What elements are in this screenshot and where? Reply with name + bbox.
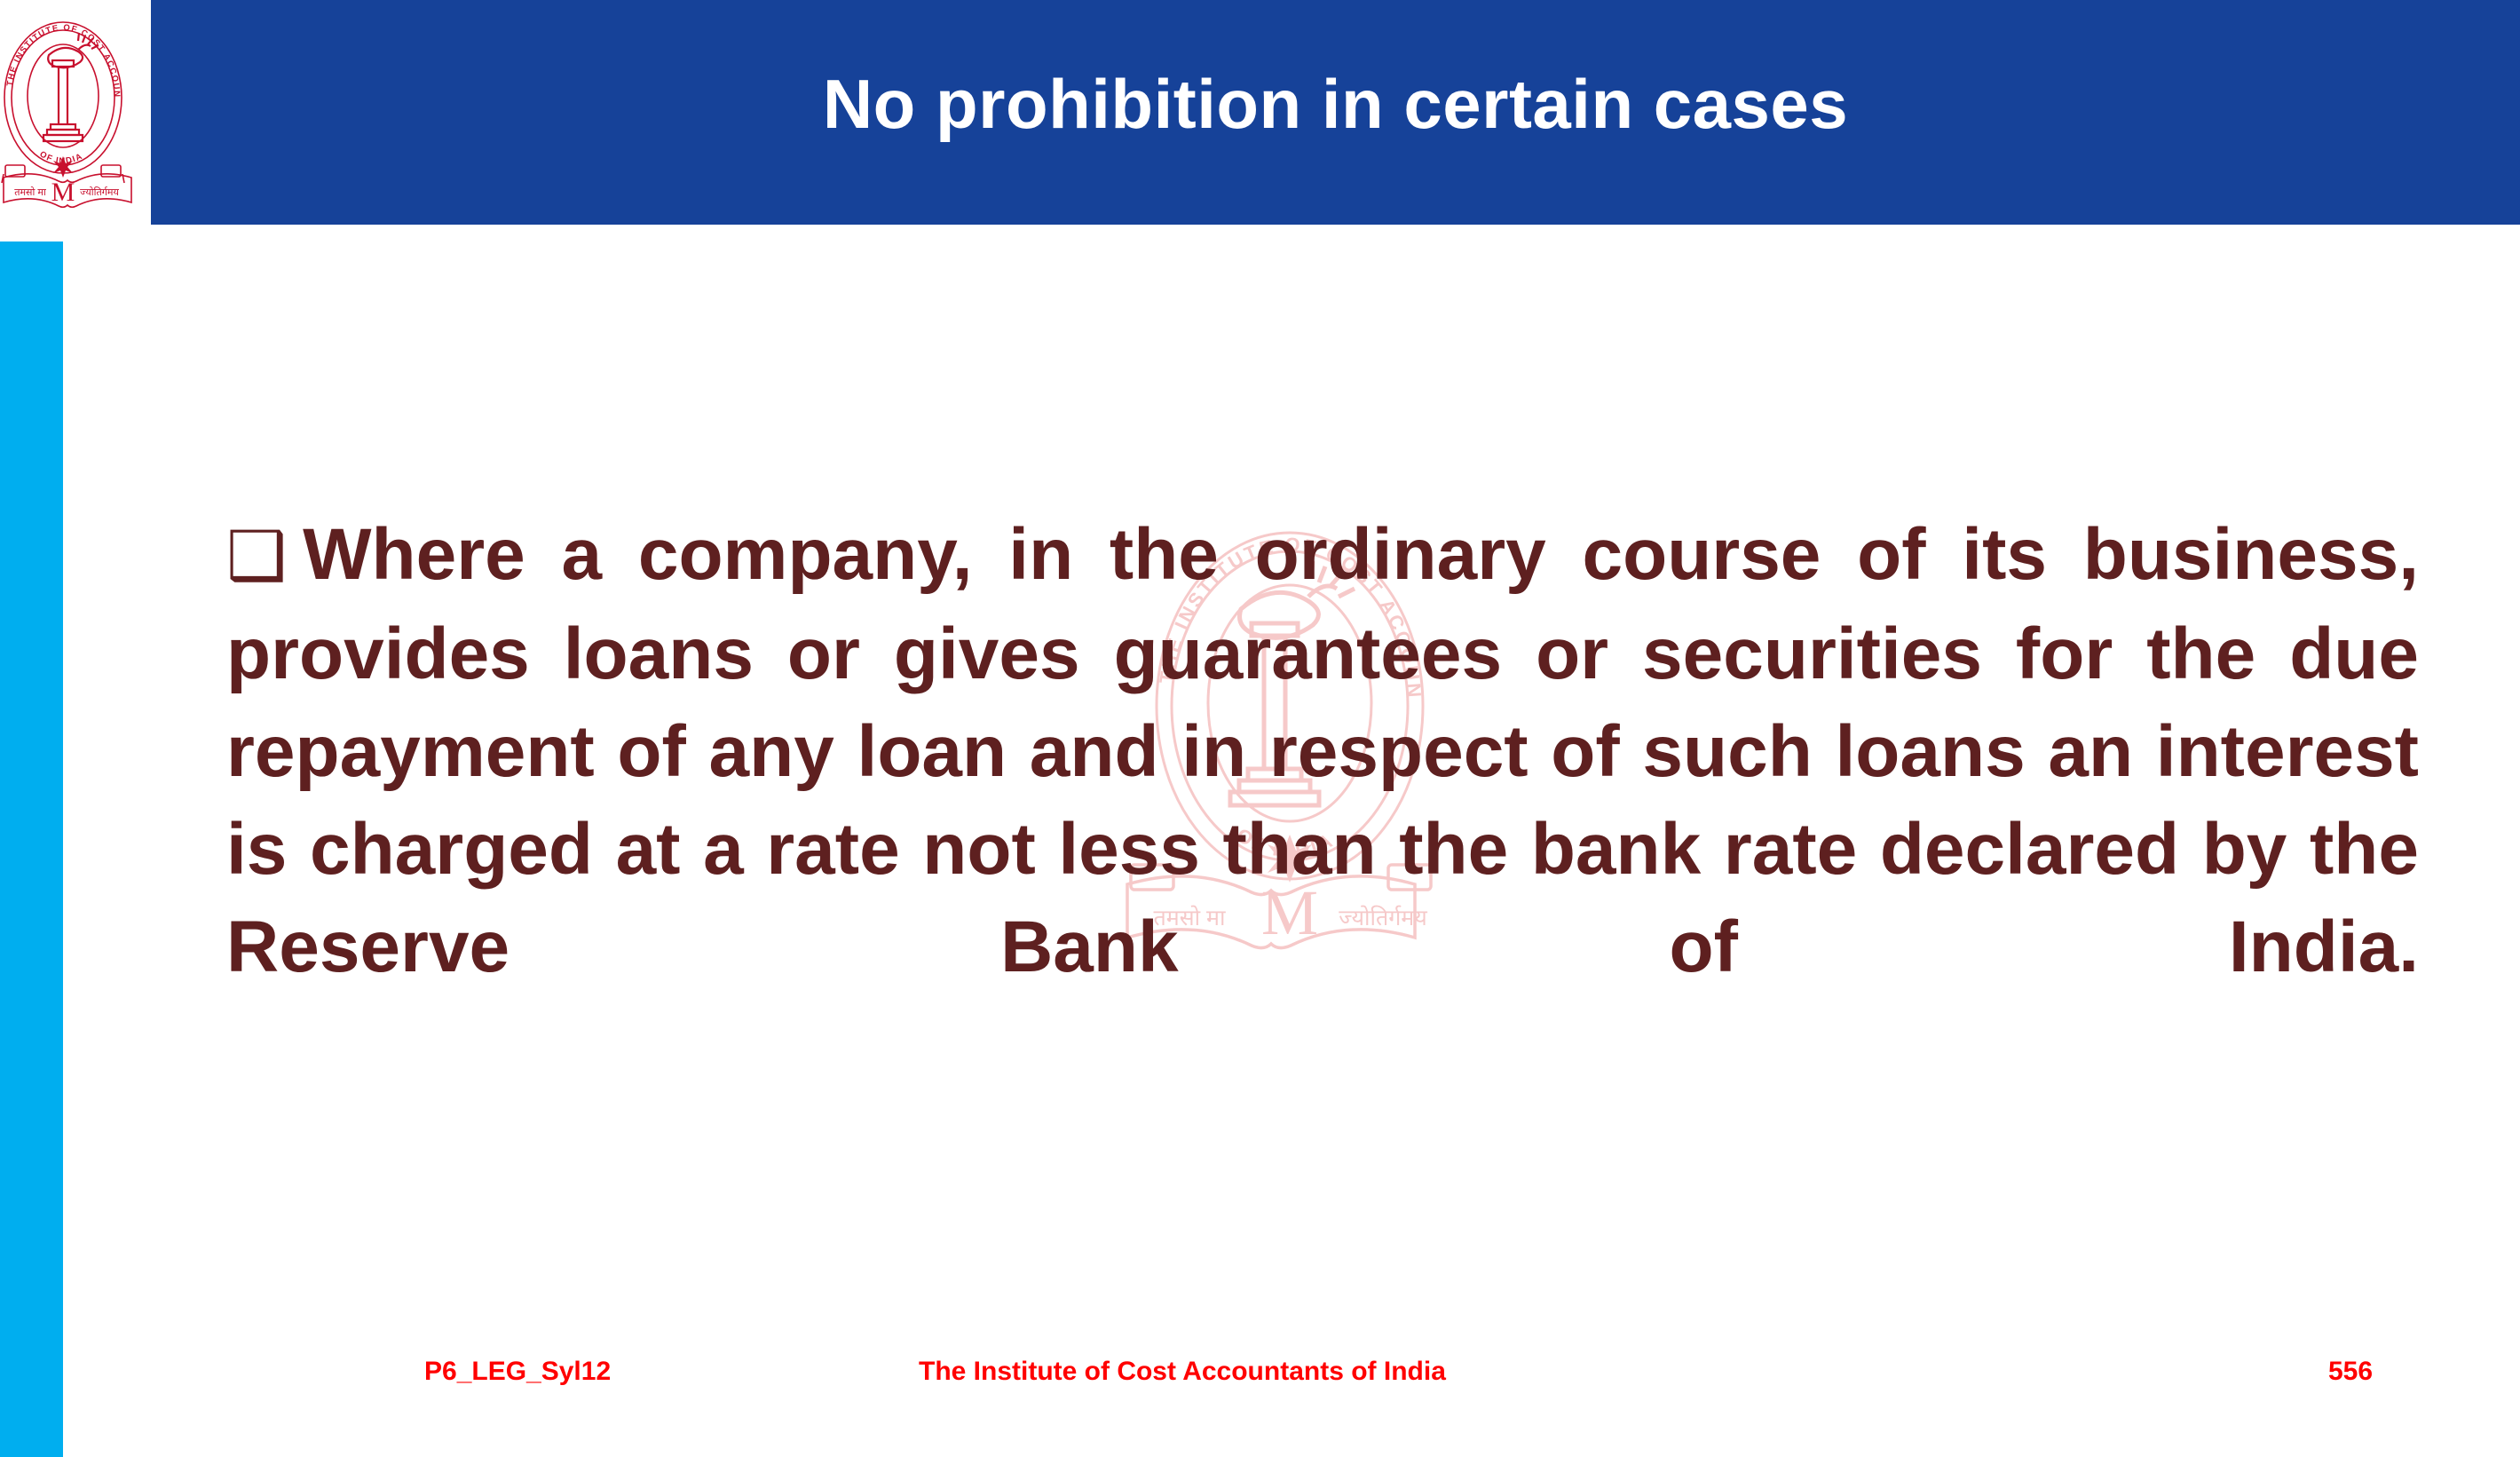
left-accent-strip [0,242,63,1457]
slide: No prohibition in certain cases THE INST… [0,0,2520,1457]
square-bullet-icon: ❑ [226,519,287,594]
page-title: No prohibition in certain cases [151,0,2520,225]
svg-text:M: M [51,178,75,207]
svg-text:तमसो मा: तमसो मा [14,186,46,198]
footer-organisation: The Institute of Cost Accountants of Ind… [919,1357,1446,1387]
footer-page-number: 556 [2328,1357,2373,1387]
body-content: ❑Where a company, in the ordinary course… [226,506,2419,1094]
footer: P6_LEG_Syl12 The Institute of Cost Accou… [0,1357,2520,1419]
body-paragraph-text: Where a company, in the ordinary course … [226,514,2419,987]
footer-syllabus-code: P6_LEG_Syl12 [424,1357,611,1387]
icai-logo: THE INSTITUTE OF COST ACCOUNTANTS OF IND… [0,0,151,242]
body-paragraph: ❑Where a company, in the ordinary course… [226,506,2419,1094]
svg-text:ज्योतिर्गमय: ज्योतिर्गमय [80,186,119,198]
